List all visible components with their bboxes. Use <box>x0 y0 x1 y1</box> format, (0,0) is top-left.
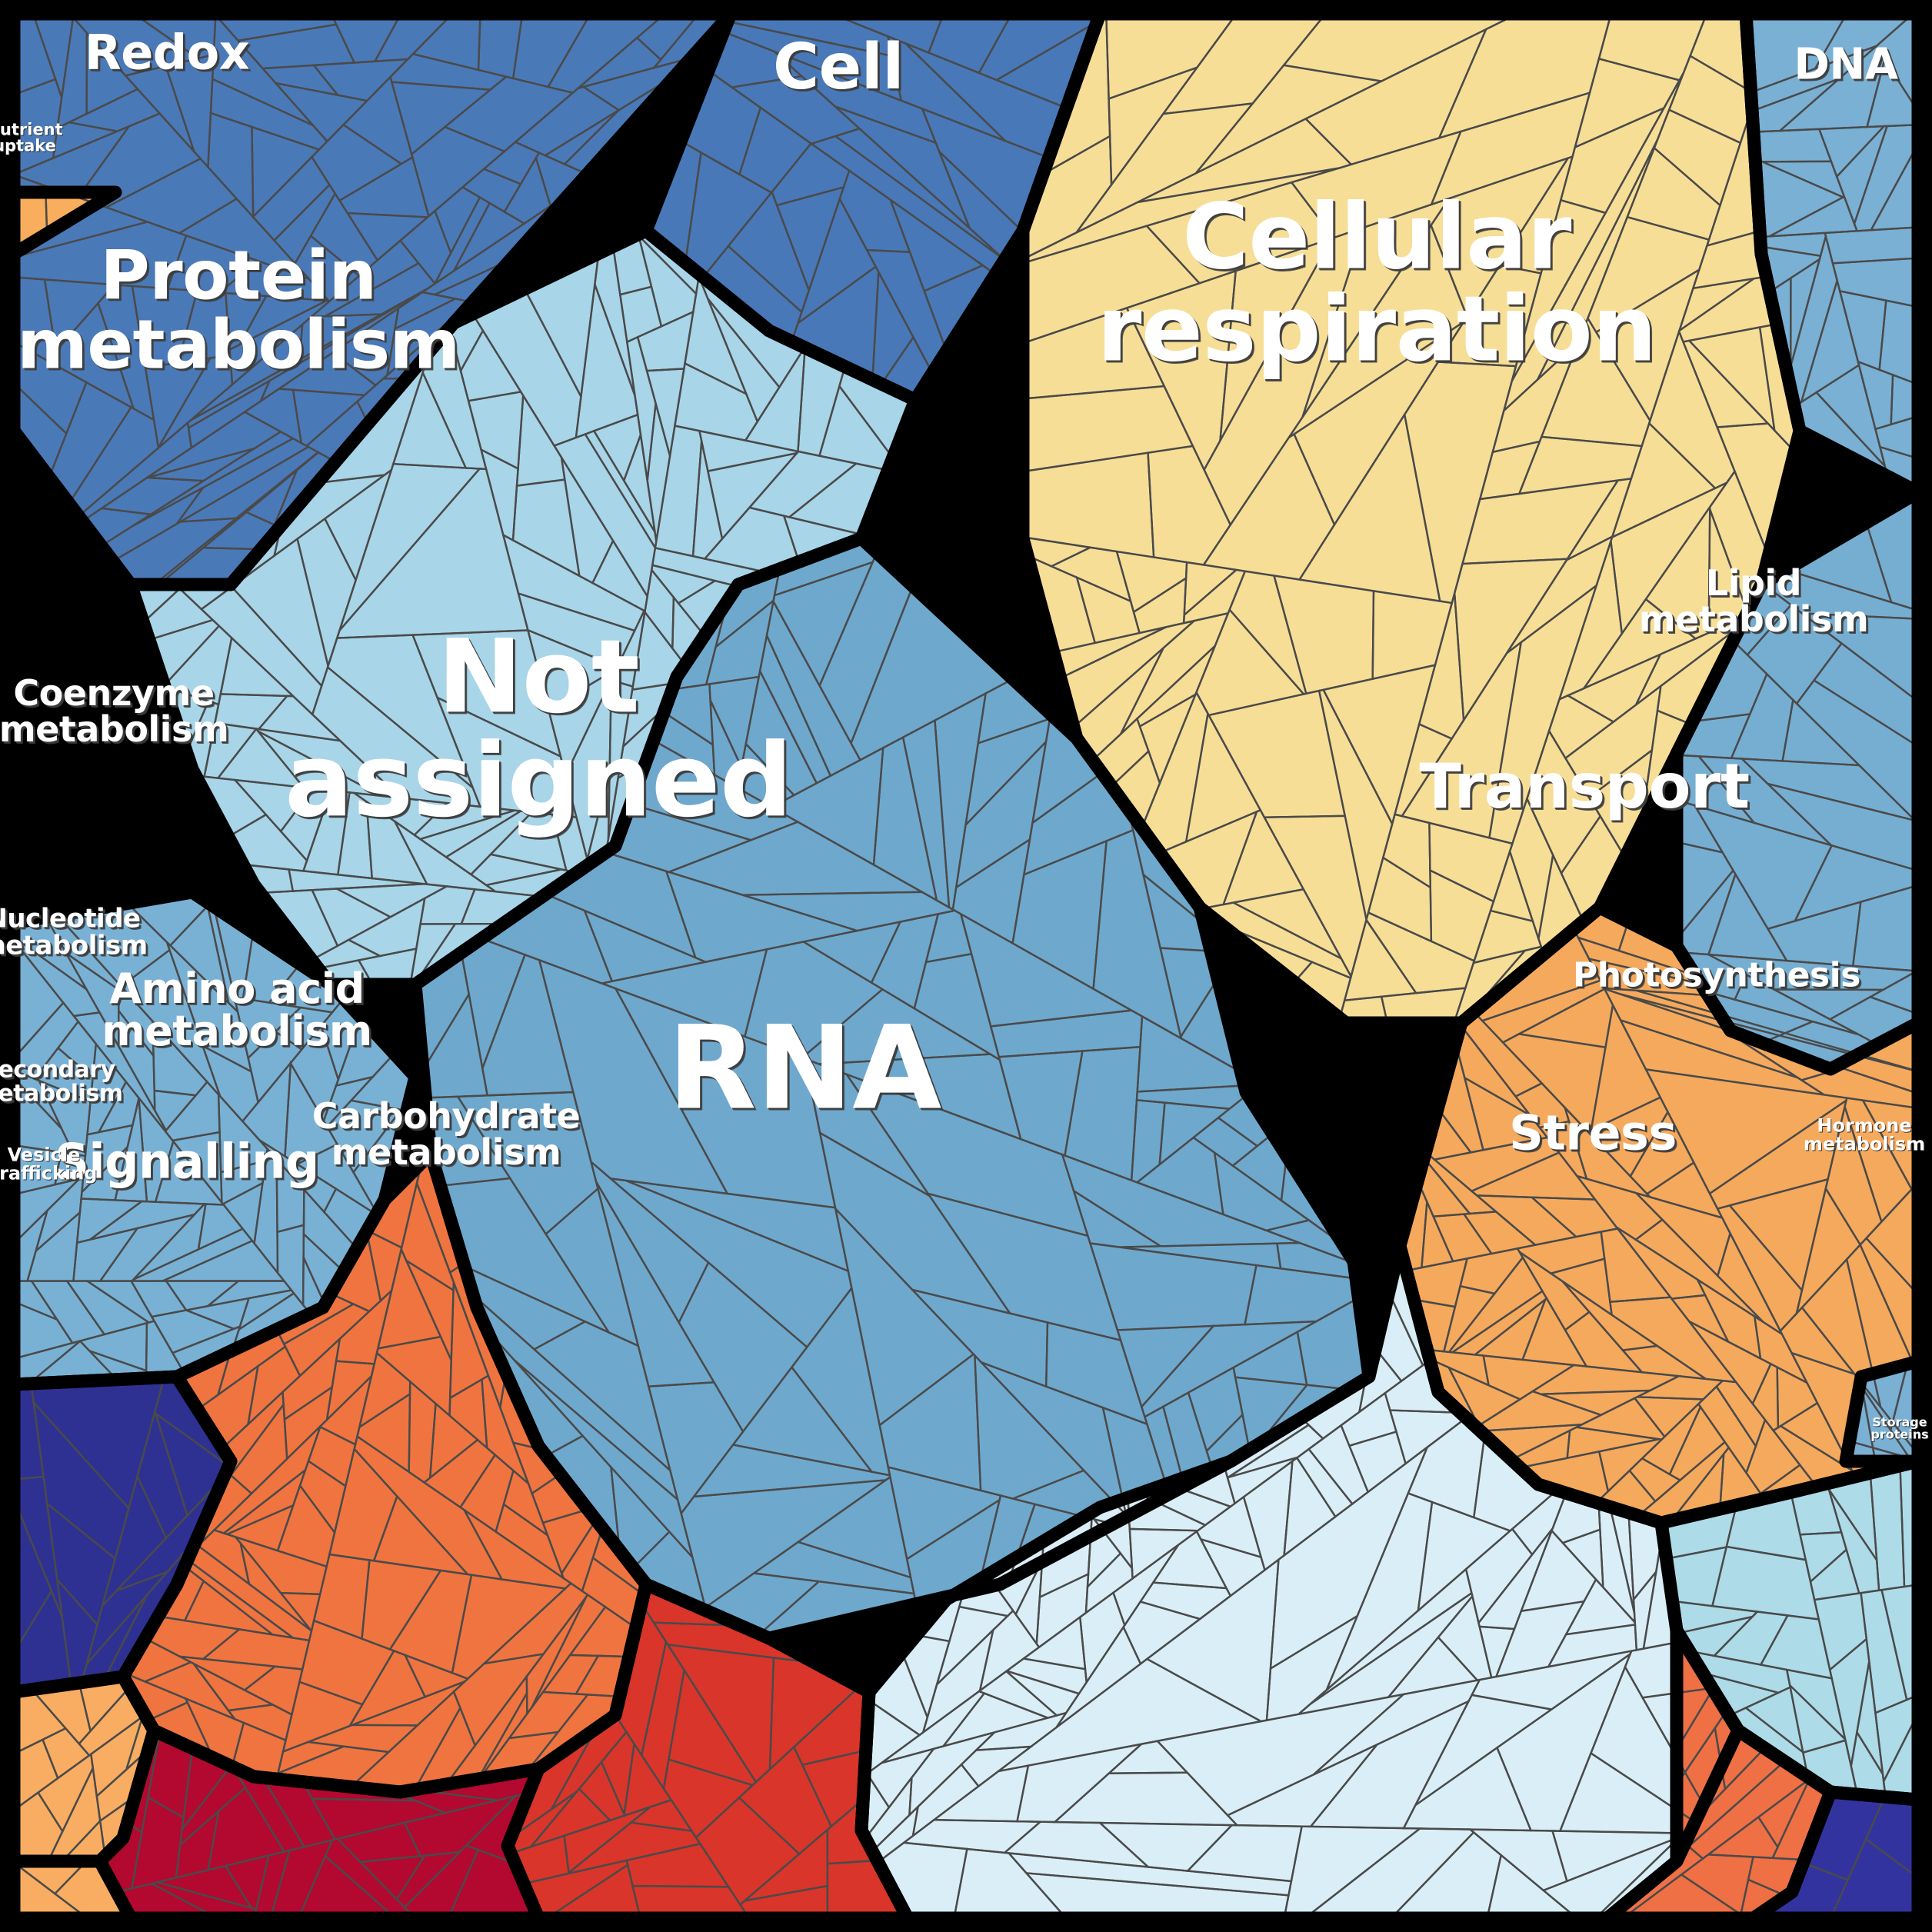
treemap-svg <box>0 0 1932 1932</box>
voronoi-treemap-figure: RedoxCellDNANutrient uptakeProtein metab… <box>0 0 1932 1932</box>
